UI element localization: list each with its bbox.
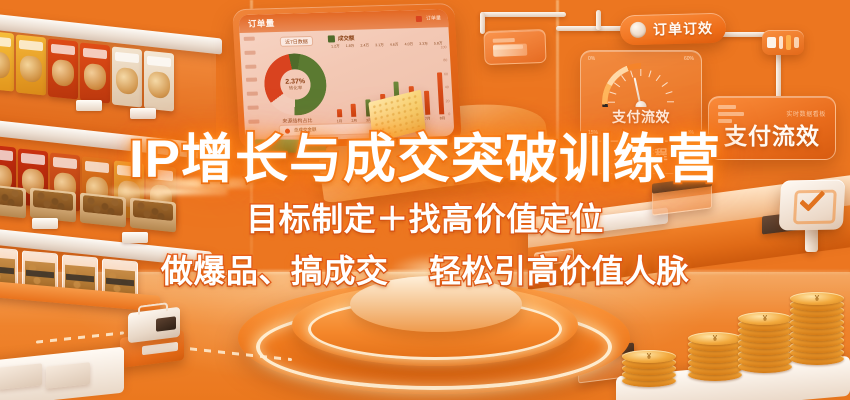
product-pack bbox=[144, 50, 174, 111]
bar-column: 1.8万2月 bbox=[347, 50, 357, 124]
subtitle-line-2: 做爆品、搞成交 轻松引高价值人脉 bbox=[0, 246, 850, 292]
mini-stat-card[interactable] bbox=[483, 29, 546, 65]
gauge-tick bbox=[640, 69, 641, 76]
order-efficiency-badge[interactable]: 订单订效 bbox=[620, 13, 727, 46]
toggle-bar-active bbox=[786, 35, 791, 50]
bar bbox=[336, 109, 341, 117]
tray-box bbox=[46, 362, 90, 389]
y-tick-label: 100 bbox=[430, 45, 446, 49]
indicator-toggle-widget[interactable] bbox=[762, 30, 804, 55]
gauge-tick bbox=[662, 82, 668, 87]
y-tick-label: 0 bbox=[434, 112, 450, 116]
toggle-bar bbox=[794, 37, 799, 48]
connector-pipe bbox=[596, 10, 601, 30]
coin-top bbox=[688, 332, 742, 345]
bar-category-label: 8月 bbox=[440, 116, 446, 121]
price-tag bbox=[130, 108, 156, 119]
gauge-label: 支付流效 bbox=[581, 107, 701, 127]
bar-value-label: 1.2万 bbox=[331, 44, 340, 49]
gauge-chart bbox=[602, 63, 680, 107]
bar-value-label: 4.0万 bbox=[404, 42, 413, 47]
connector-pipe bbox=[776, 52, 781, 98]
gauge-tick bbox=[621, 75, 626, 81]
coin-top bbox=[622, 350, 676, 363]
headline-block: IP增长与成交突破训练营 目标制定＋找高价值定位 做爆品、搞成交 轻松引高价值人… bbox=[0, 132, 850, 292]
donut-sublabel: 转化率 bbox=[289, 85, 303, 91]
bar-value-label: 3.3万 bbox=[419, 42, 428, 47]
toggle-bar bbox=[767, 37, 776, 48]
legend-label: 成交额 bbox=[338, 34, 355, 42]
bar-value-label: 1.8万 bbox=[346, 44, 355, 49]
y-tick-label: 60 bbox=[432, 72, 448, 76]
page-title: IP增长与成交突破训练营 bbox=[0, 132, 850, 187]
bar-value-label: 2.4万 bbox=[360, 43, 369, 48]
gauge-tick bbox=[656, 75, 661, 81]
toggle-bar bbox=[779, 36, 784, 49]
gauge-tick bbox=[614, 82, 620, 87]
connector-pipe bbox=[480, 12, 566, 17]
dashboard-tablet[interactable]: 订单量 订单量 近7日数据 成交额 2.37% 转化率 来源结构占比 1.2万1… bbox=[232, 3, 462, 149]
gauge-tick bbox=[648, 70, 651, 77]
device-slot bbox=[142, 342, 178, 355]
gauge-corner-label: 60% bbox=[684, 56, 694, 62]
price-tag bbox=[76, 100, 102, 111]
date-range-chip[interactable]: 近7日数据 bbox=[280, 36, 313, 47]
product-pack bbox=[80, 42, 110, 103]
bar-value-label: 3.1万 bbox=[375, 43, 384, 48]
bar-category-label: 7月 bbox=[425, 117, 431, 122]
device-screen bbox=[156, 316, 176, 331]
y-tick-label: 40 bbox=[433, 85, 449, 89]
mini-card-value-block bbox=[493, 44, 527, 57]
y-tick-label: 20 bbox=[433, 99, 449, 103]
dashboard-legend-right: 订单量 bbox=[416, 14, 441, 22]
y-axis-ticks: 100806040200 bbox=[430, 45, 450, 116]
subtitle-line-2a: 做爆品、搞成交 bbox=[161, 253, 389, 289]
product-pack bbox=[16, 34, 46, 95]
coin-top bbox=[790, 292, 844, 305]
bar-value-label: 4.6万 bbox=[390, 43, 399, 48]
tray-box bbox=[0, 363, 42, 390]
series-legend: 成交额 bbox=[328, 34, 355, 43]
bar bbox=[351, 104, 357, 117]
product-pack bbox=[0, 30, 14, 91]
dashboard-side-labels bbox=[244, 36, 265, 123]
product-pack bbox=[112, 46, 142, 107]
product-pack bbox=[48, 38, 78, 99]
payment-gauge-card[interactable]: 0% 60% 15% 100% 支付流效 bbox=[580, 50, 702, 142]
coin-top bbox=[738, 312, 792, 325]
gauge-tick bbox=[609, 91, 616, 94]
gauge-tick bbox=[630, 70, 633, 77]
subtitle-line-1: 目标制定＋找高价值定位 bbox=[0, 194, 850, 240]
legend-swatch bbox=[416, 15, 422, 21]
bar bbox=[424, 91, 430, 115]
dashboard-title: 订单量 bbox=[248, 17, 275, 30]
connector-pipe bbox=[480, 12, 485, 34]
badge-label: 订单订效 bbox=[653, 18, 714, 40]
badge-knob-icon bbox=[630, 22, 646, 38]
subtitle-line-2b: 轻松引高价值人脉 bbox=[429, 253, 689, 289]
glowing-podium bbox=[238, 276, 630, 400]
gauge-tick bbox=[667, 101, 674, 102]
y-tick-label: 80 bbox=[431, 59, 447, 63]
gauge-tick bbox=[666, 91, 673, 94]
gauge-tick bbox=[608, 101, 615, 102]
bar-column: 1.2万1月 bbox=[333, 50, 343, 124]
gauge-corner-label: 0% bbox=[588, 56, 595, 62]
legend-label: 订单量 bbox=[426, 14, 441, 21]
donut-center: 2.37% 转化率 bbox=[263, 53, 328, 117]
legend-swatch bbox=[328, 35, 335, 42]
promo-banner: 订单量 订单量 近7日数据 成交额 2.37% 转化率 来源结构占比 1.2万1… bbox=[0, 0, 850, 400]
